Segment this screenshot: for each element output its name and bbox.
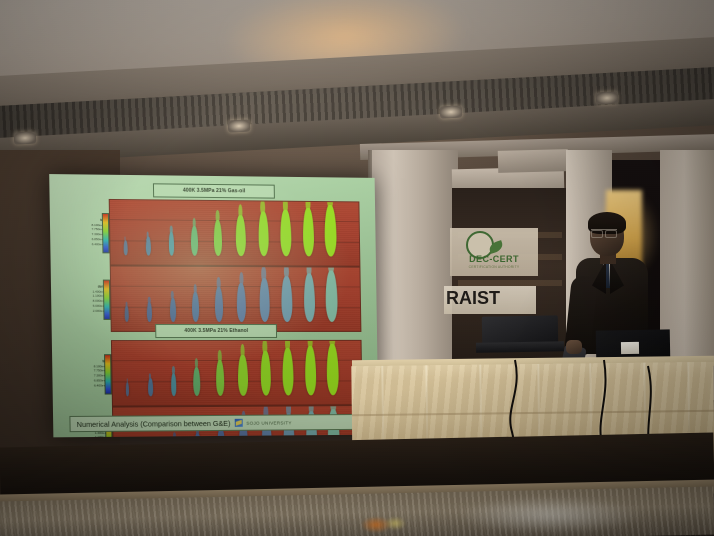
- spray-plume: [146, 237, 151, 256]
- plot-row-gasoil-density: density 1.400e+001 1.100e+001 8.000e+000…: [67, 265, 361, 332]
- gridline: [110, 219, 359, 222]
- dec-cert-banner: DEC-CERT CERTIFICATION AUTHORITY: [450, 228, 538, 276]
- laptop-lid: [482, 315, 558, 344]
- spray-plume: [281, 276, 292, 322]
- plot-group-gasoil: 400K 3.5MPa 21% Gas-oil temp 8.100e+002 …: [66, 182, 362, 332]
- spray-plume: [259, 279, 270, 322]
- name-card: [621, 342, 639, 354]
- spray-plume: [214, 287, 223, 322]
- plot-title-ethanol: 400K 3.5MPa 21% Ethanol: [155, 324, 277, 338]
- banner-primary-label: DEC-CERT: [454, 254, 534, 264]
- spray-plume: [169, 298, 175, 322]
- spray-plume: [147, 302, 152, 322]
- projection-screen: 400K 3.5MPa 21% Gas-oil temp 8.100e+002 …: [49, 174, 378, 437]
- spray-plume: [238, 355, 248, 396]
- field-gasoil-density: [110, 265, 362, 332]
- spray-plume: [124, 306, 128, 322]
- gridline: [112, 360, 361, 362]
- spray-plume: [213, 220, 222, 256]
- field-ethanol-temp: [111, 340, 363, 407]
- university-logo-icon: [234, 419, 242, 427]
- slide-caption: Numerical Analysis (Comparison between G…: [69, 414, 363, 432]
- plot-title-gasoil: 400K 3.5MPa 21% Gas-oil: [153, 183, 275, 198]
- spray-plume: [258, 212, 269, 256]
- plot-row-ethanol-temp: temp 8.100e+002 7.750e+002 7.300e+002 6.…: [68, 340, 362, 407]
- presenter-hand: [566, 340, 582, 354]
- banner-primary-sub: CERTIFICATION AUTHORITY: [454, 265, 534, 269]
- spray-plume: [123, 240, 127, 255]
- banner-secondary-label: RAIST: [446, 288, 536, 309]
- spray-plume: [303, 273, 315, 322]
- spray-plume: [215, 360, 224, 396]
- spray-plume: [260, 351, 271, 396]
- laptop-base: [476, 341, 564, 353]
- spray-plume: [325, 271, 338, 323]
- spray-plume: [280, 210, 292, 257]
- plot-row-gasoil-temp: temp 8.100e+002 7.750e+002 7.300e+002 6.…: [66, 199, 360, 267]
- slide: 400K 3.5MPa 21% Gas-oil temp 8.100e+002 …: [49, 174, 378, 437]
- ceiling-spotlight-icon: [228, 119, 251, 132]
- spray-plume: [170, 373, 176, 396]
- raist-banner: RAIST: [444, 286, 536, 314]
- spray-plume: [192, 292, 200, 322]
- spray-plume: [148, 378, 153, 396]
- field-gasoil-temp: [109, 199, 361, 267]
- spray-plume: [326, 344, 339, 396]
- spray-plume: [191, 226, 199, 256]
- spray-plume: [193, 367, 201, 397]
- spray-plume: [168, 232, 174, 256]
- axis-ethanol-temp: temp 8.100e+002 7.750e+002 7.300e+002 6.…: [68, 340, 112, 407]
- ceiling-spotlight-icon: [596, 91, 619, 104]
- stage-flowers: [352, 508, 412, 536]
- spray-plume: [302, 207, 314, 256]
- spray-plume: [237, 283, 247, 322]
- floor-light-hotspot: [420, 490, 680, 536]
- spray-plume: [125, 382, 129, 396]
- ceiling-spotlight-icon: [440, 105, 463, 118]
- axis-gasoil-density: density 1.400e+001 1.100e+001 8.000e+000…: [67, 265, 111, 332]
- spray-plume: [304, 346, 316, 396]
- gridline: [111, 286, 360, 288]
- glasses-icon: [591, 229, 617, 236]
- leaf-icon: [488, 240, 504, 254]
- spray-plume: [324, 205, 337, 257]
- ceiling-spotlight-icon: [14, 131, 37, 144]
- axis-gasoil-temp: temp 8.100e+002 7.750e+002 7.300e+002 6.…: [66, 199, 110, 266]
- conference-photo-scene: DEC-CERT CERTIFICATION AUTHORITY RAIST 4…: [0, 0, 714, 536]
- university-name: SOJO UNIVERSITY: [246, 420, 291, 425]
- spray-plume: [282, 348, 294, 396]
- door-frame-step: [498, 149, 569, 173]
- spray-plume: [235, 215, 245, 256]
- caption-text: Numerical Analysis (Comparison between G…: [77, 418, 231, 428]
